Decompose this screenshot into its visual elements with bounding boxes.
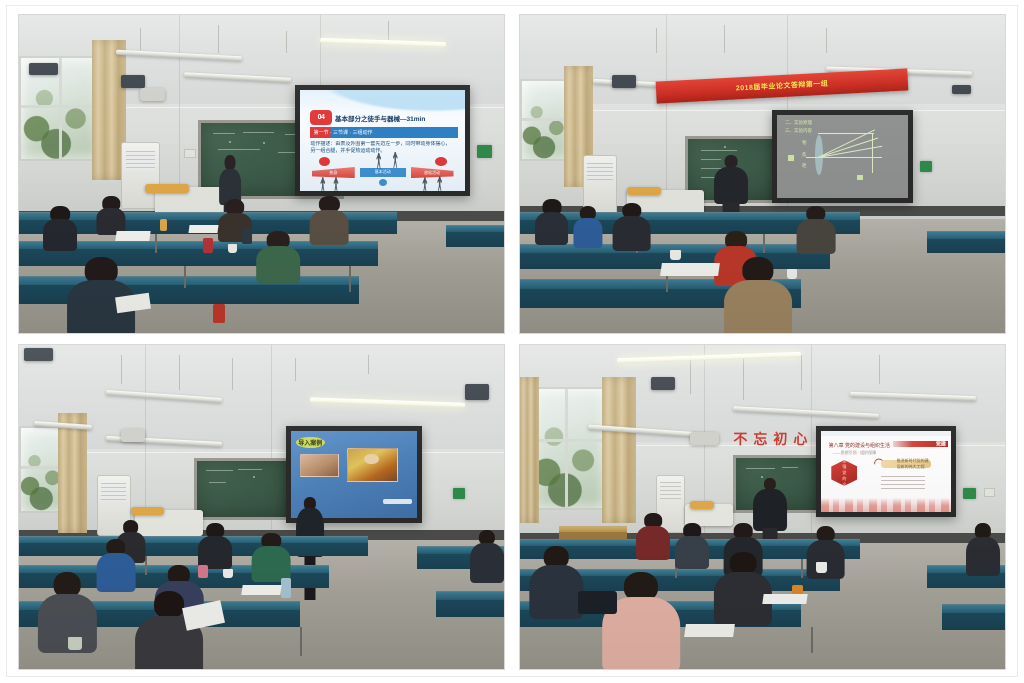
slide-content: 04 基本部分之徒手与器械—31min 第一节 · 三节课 · 三组动作 动作描…: [300, 90, 465, 191]
wall-calligraphy: 不忘初心: [733, 429, 813, 449]
podium-top: [627, 187, 661, 195]
slide-pill-label: 导入案例: [296, 437, 325, 448]
projector: [121, 429, 145, 442]
water-bottle: [198, 565, 208, 578]
paper-sheet: [115, 231, 150, 241]
audience-member: [135, 591, 203, 670]
photo-bottom-right[interactable]: 不忘初心 党建 第八章 党的建设与组织生活 ——思想引领 · 组织保障: [519, 344, 1006, 670]
classroom-scene-2: 2018届毕业论文答辩第一组 二、实验原理 三、实验内容: [520, 15, 1005, 333]
desk-row: [436, 591, 504, 617]
window: [530, 387, 608, 510]
slide-paragraph: [881, 476, 925, 489]
desk-row: [927, 231, 1005, 253]
paper-cup: [816, 562, 828, 573]
paper-cup: [228, 244, 238, 254]
audience-member: [796, 206, 835, 254]
audience-member: [966, 523, 1000, 575]
classroom-scene-3: 导入案例: [19, 345, 504, 669]
classroom-scene-4: 不忘初心 党建 第八章 党的建设与组织生活 ——思想引领 · 组织保障: [520, 345, 1005, 669]
audience-member: [97, 196, 126, 234]
slide-body: 动作描述：由表及外围第一套先迈左一步，同时带动身体摆心，另一组合腿，并手促热运动…: [310, 141, 455, 157]
paper-cup: [787, 269, 798, 279]
speaker: [952, 85, 971, 95]
speaker: [24, 348, 53, 361]
paper-sheet: [684, 624, 734, 637]
curtain: [58, 413, 87, 533]
diagram-marker: [857, 175, 864, 181]
photo-top-left[interactable]: 04 基本部分之徒手与器械—31min 第一节 · 三节课 · 三组动作 动作描…: [18, 14, 505, 334]
backpack: [578, 591, 617, 614]
air-conditioner: [121, 142, 160, 209]
water-bottle: [281, 578, 291, 597]
slide-content: 二、实验原理 三、实验内容 物 焦 距: [777, 115, 908, 197]
audience-member: [714, 552, 772, 623]
paper-sheet: [241, 585, 281, 595]
photo-grid: 04 基本部分之徒手与器械—31min 第一节 · 三节课 · 三组动作 动作描…: [18, 14, 1006, 668]
speaker: [121, 75, 145, 88]
slide-label-2: 三、实验内容: [785, 128, 812, 134]
slide-banner-left: 热身: [312, 167, 355, 178]
slide-caption-tag: [383, 499, 412, 504]
audience-member: [675, 523, 709, 568]
speaker: [29, 63, 58, 76]
audience-member: [636, 513, 670, 558]
classroom-scene-1: 04 基本部分之徒手与器械—31min 第一节 · 三节课 · 三组动作 动作描…: [19, 15, 504, 333]
slide-subbar: 第一节 · 三节课 · 三组动作: [310, 127, 458, 137]
audience-member: [43, 206, 77, 251]
water-bottle: [203, 238, 213, 254]
audience-member: [252, 533, 291, 582]
paper-cup: [223, 569, 234, 579]
slide-image-left: [300, 454, 339, 478]
audience-member: [97, 539, 136, 591]
skyline-graphic: [821, 498, 952, 512]
paper-sheet: [188, 225, 218, 233]
photo-top-right[interactable]: 2018届毕业论文答辩第一组 二、实验原理 三、实验内容: [519, 14, 1006, 334]
exit-sign: [453, 488, 466, 499]
podium-top: [690, 501, 714, 509]
slide-image-right: [347, 448, 397, 481]
projection-screen: 党建 第八章 党的建设与组织生活 ——思想引领 · 组织保障 坚持和加强党的全面…: [816, 426, 957, 517]
wall-socket: [184, 149, 196, 159]
paper-sheet: [762, 594, 807, 604]
wall-socket: [984, 488, 996, 498]
slide-banner-center: 基本活动: [360, 168, 406, 177]
audience-member: [198, 523, 232, 568]
speaker: [465, 384, 489, 400]
event-banner-text: 2018届毕业论文答辩第一组: [735, 79, 828, 94]
paper-sheet: [660, 263, 720, 276]
ceiling: [19, 345, 504, 455]
speaker: [612, 75, 636, 88]
desk-row: [942, 604, 1005, 630]
slide-badge: 04: [310, 110, 331, 125]
slide-badge-label: 党建: [936, 441, 946, 448]
audience-member: [530, 546, 583, 617]
slide-subheading: ——思想引领 · 组织保障: [833, 450, 877, 456]
slide-ribbon: 推进新时代党的建设新的伟大工程: [881, 460, 931, 468]
projection-screen: 04 基本部分之徒手与器械—31min 第一节 · 三节课 · 三组动作 动作描…: [295, 85, 470, 196]
slide-title: 基本部分之徒手与器械—31min: [335, 110, 458, 125]
audience-member: [310, 196, 349, 244]
exit-sign: [963, 488, 976, 499]
water-bottle: [213, 304, 225, 323]
desk-row: [19, 536, 368, 555]
audience-member: [724, 257, 792, 333]
desk-row: [446, 225, 504, 247]
curtain: [602, 377, 636, 523]
exit-sign: [477, 145, 492, 158]
diagram-marker: [788, 155, 795, 161]
projector: [140, 88, 164, 101]
slide-heading: 第八章 党的建设与组织生活: [829, 442, 890, 449]
podium-top: [131, 507, 165, 515]
audience-member: [602, 572, 680, 669]
water-bottle: [160, 219, 168, 232]
water-bottle: [242, 228, 252, 244]
photo-bottom-left[interactable]: 导入案例: [18, 344, 505, 670]
blackboard: [194, 458, 291, 520]
podium-top: [145, 184, 189, 194]
audience-member: [470, 530, 504, 582]
exit-sign: [920, 161, 933, 172]
slide-content: 党建 第八章 党的建设与组织生活 ——思想引领 · 组织保障 坚持和加强党的全面…: [821, 431, 952, 512]
speaker: [651, 377, 675, 390]
slide-hexagon: 坚持和加强党的全面领导: [831, 460, 857, 486]
audience-member: [68, 257, 136, 333]
curtain: [520, 377, 539, 523]
audience-member: [535, 199, 569, 244]
paper-cup: [670, 250, 681, 260]
audience-member: [573, 206, 602, 247]
audience-member: [257, 231, 301, 282]
collage-page: 04 基本部分之徒手与器械—31min 第一节 · 三节课 · 三组动作 动作描…: [0, 0, 1024, 683]
paper-cup: [68, 637, 83, 650]
audience-member: [612, 203, 651, 251]
slide-label-1: 二、实验原理: [785, 120, 812, 126]
slide-accent-bar: 党建: [893, 441, 948, 447]
projection-screen: 二、实验原理 三、实验内容 物 焦 距: [772, 110, 913, 202]
slide-banner-right: 放松活动: [411, 167, 454, 178]
projector: [690, 432, 719, 445]
